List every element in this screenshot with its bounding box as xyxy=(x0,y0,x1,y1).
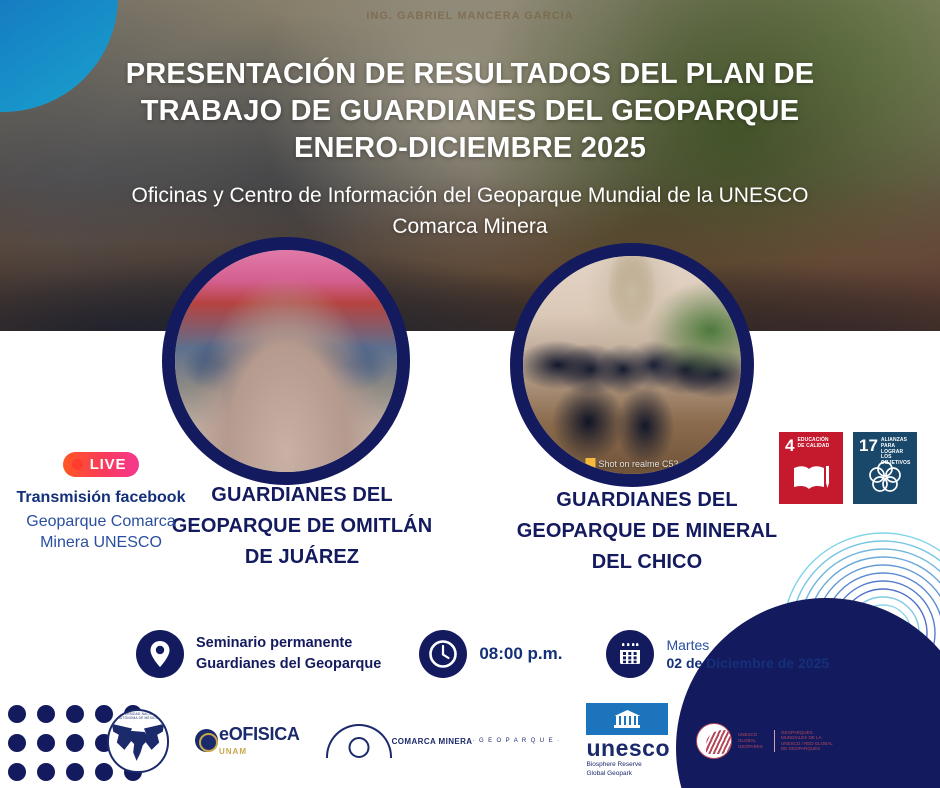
info-item-place: Seminario permanente Guardianes del Geop… xyxy=(136,630,381,678)
live-broadcast-block: LIVE Transmisión facebook Geoparque Coma… xyxy=(8,452,194,554)
logo-comarca-minera: COMARCA MINERA · G E O P A R Q U E · xyxy=(326,724,561,758)
unesco-temple-box xyxy=(586,703,668,735)
unesco-lockup: unesco Biosphere Reserve Global Geopark xyxy=(586,703,670,779)
unesco-temple-icon xyxy=(614,710,640,728)
geofisica-sub: UNAM xyxy=(219,747,300,756)
info-time-text: 08:00 p.m. xyxy=(479,644,562,664)
wall-plaque-text: ING. GABRIEL MANCERA GARCIA xyxy=(366,10,573,22)
partner-logo-row: UNIVERSIDAD NACIONAL AUTÓNOMA DE MÉXICO … xyxy=(0,703,940,779)
info-date-day: Martes xyxy=(666,637,709,653)
watermark-text: Shot on realme C53 xyxy=(598,459,678,469)
sdg-17-number: 17 xyxy=(859,438,878,453)
temple-columns xyxy=(616,716,638,725)
live-badge-label: LIVE xyxy=(90,456,127,473)
photo-mineral-group xyxy=(523,256,741,474)
unesco-sub-line1: Biosphere Reserve xyxy=(586,761,641,768)
ggn-swirl-icon xyxy=(696,723,732,759)
ggn-text-left: UNESCO GLOBAL GEOPARKS xyxy=(738,732,768,749)
comarca-mine-arc-icon xyxy=(326,724,392,758)
info-date-text: Martes 02 de Diciembre de 2025 xyxy=(666,637,829,671)
info-item-time: 08:00 p.m. xyxy=(419,630,562,678)
unesco-wordmark: unesco xyxy=(586,736,670,760)
info-place-line1: Seminario permanente xyxy=(196,635,352,651)
info-item-date: Martes 02 de Diciembre de 2025 xyxy=(606,630,829,678)
unesco-sub-line2: Global Geopark xyxy=(586,770,632,777)
photo-watermark: Shot on realme C53 xyxy=(585,458,678,469)
logo-geofisica-unam: eOFISICA UNAM xyxy=(195,725,300,756)
unesco-sub: Biosphere Reserve Global Geopark xyxy=(586,761,670,779)
open-book-icon xyxy=(791,462,831,497)
unam-ring-text: UNIVERSIDAD NACIONAL AUTÓNOMA DE MÉXICO xyxy=(109,712,167,720)
ggn-divider xyxy=(774,730,775,752)
unam-map-icon xyxy=(126,731,150,761)
interlocking-circles-icon xyxy=(867,460,903,497)
geofisica-wordmark-group: eOFISICA UNAM xyxy=(219,725,300,756)
ggn-text-right: GEOPARQUES MUNDIALES DE LA UNESCO / RED … xyxy=(781,730,833,753)
caption-omitlan: GUARDIANES DEL GEOPARQUE DE OMITLÁN DE J… xyxy=(168,480,436,573)
poster-canvas: ING. GABRIEL MANCERA GARCIA PRESENTACIÓN… xyxy=(0,0,940,788)
live-channel-name: Geoparque Comarca Minera UNESCO xyxy=(8,512,194,554)
photo-omitlan-group xyxy=(175,250,397,472)
clock-icon xyxy=(419,630,467,678)
header-text-block: PRESENTACIÓN DE RESULTADOS DEL PLAN DE T… xyxy=(0,56,940,242)
live-channel-title: Transmisión facebook xyxy=(8,489,194,507)
watermark-chip-icon xyxy=(585,458,595,468)
sdg-badge-row: 4 EDUCACIÓN DE CALIDAD 17 ALIANZAS PARA … xyxy=(779,432,917,504)
sdg-4-header: 4 EDUCACIÓN DE CALIDAD xyxy=(785,438,837,453)
photo-circle-omitlan xyxy=(162,237,410,485)
sdg-badge-4: 4 EDUCACIÓN DE CALIDAD xyxy=(779,432,843,504)
comarca-name: COMARCA MINERA xyxy=(392,737,473,746)
photo-circle-mineral-del-chico: Shot on realme C53 xyxy=(510,243,754,487)
map-pin-icon xyxy=(136,630,184,678)
sdg-4-label: EDUCACIÓN DE CALIDAD xyxy=(797,438,837,450)
info-date-full: 02 de Diciembre de 2025 xyxy=(666,655,829,671)
info-place-line2: Guardianes del Geoparque xyxy=(196,656,381,672)
page-subtitle: Oficinas y Centro de Información del Geo… xyxy=(0,181,940,242)
logo-global-geoparks-network: UNESCO GLOBAL GEOPARKS GEOPARQUES MUNDIA… xyxy=(696,723,833,759)
page-title: PRESENTACIÓN DE RESULTADOS DEL PLAN DE T… xyxy=(0,56,940,167)
info-place-text: Seminario permanente Guardianes del Geop… xyxy=(196,633,381,675)
live-badge[interactable]: LIVE xyxy=(63,452,140,477)
logo-unam: UNIVERSIDAD NACIONAL AUTÓNOMA DE MÉXICO xyxy=(107,709,169,773)
caption-mineral-del-chico: GUARDIANES DEL GEOPARQUE DE MINERAL DEL … xyxy=(506,485,788,578)
comarca-sub: · G E O P A R Q U E · xyxy=(472,738,560,744)
temple-base xyxy=(614,725,640,728)
geofisica-globe-icon xyxy=(195,729,218,752)
geofisica-wordmark: eOFISICA xyxy=(219,724,300,744)
calendar-icon xyxy=(606,630,654,678)
sdg-badge-17: 17 ALIANZAS PARA LOGRAR LOS OBJETIVOS xyxy=(853,432,917,504)
logo-unesco: unesco Biosphere Reserve Global Geopark xyxy=(586,703,670,779)
live-dot-icon xyxy=(72,459,83,470)
unam-seal-icon: UNIVERSIDAD NACIONAL AUTÓNOMA DE MÉXICO xyxy=(107,709,169,773)
event-info-row: Seminario permanente Guardianes del Geop… xyxy=(0,630,940,678)
sdg-4-number: 4 xyxy=(785,438,794,453)
geofisica-lockup: eOFISICA UNAM xyxy=(195,725,300,756)
